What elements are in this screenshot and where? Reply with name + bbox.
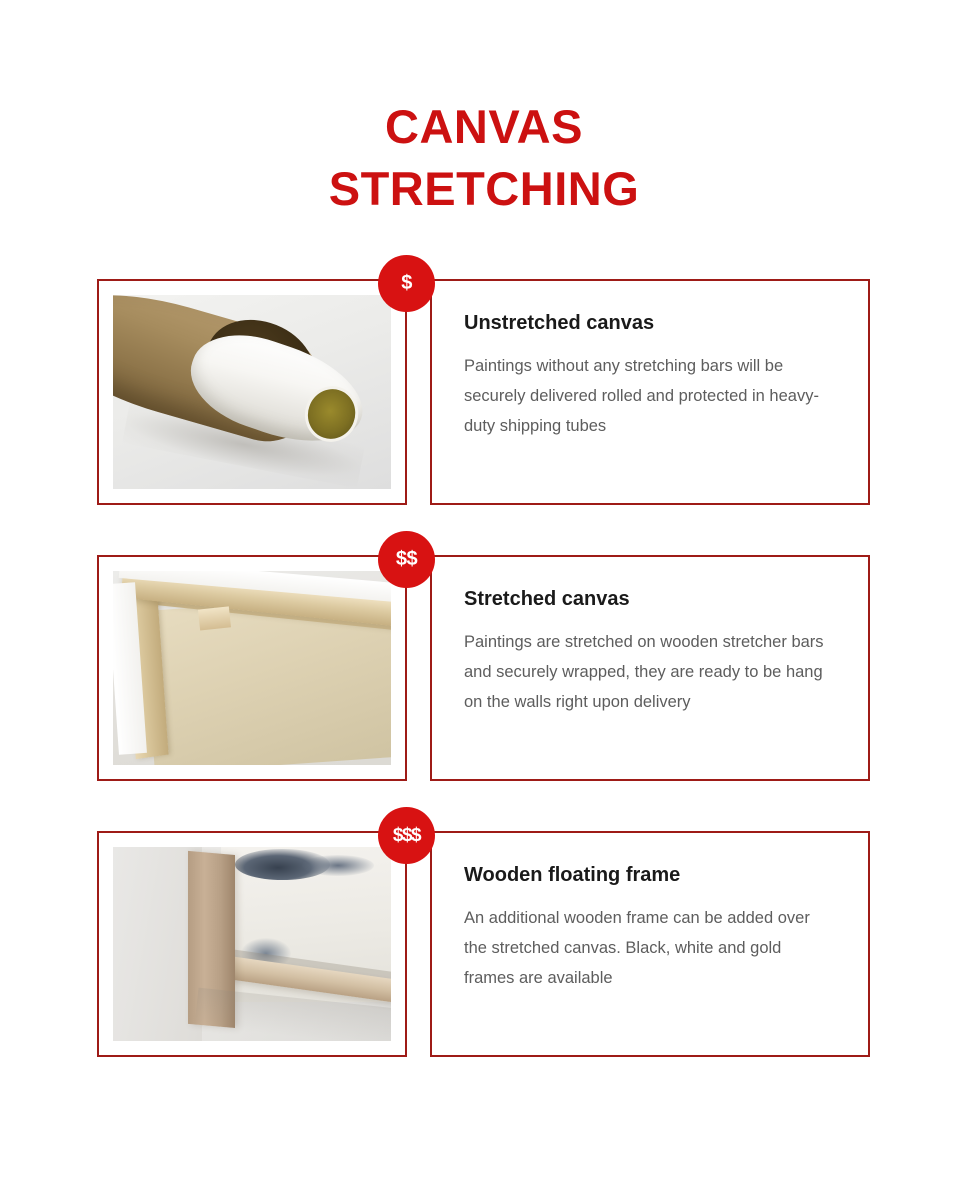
- price-badge: $$: [378, 531, 435, 588]
- stretched-canvas-wooden-bars-photo: [113, 571, 391, 765]
- page-title-line-1: CANVAS: [0, 96, 968, 158]
- option-text-card: Unstretched canvas Paintings without any…: [430, 279, 870, 505]
- option-heading: Wooden floating frame: [464, 863, 836, 887]
- option-heading: Unstretched canvas: [464, 311, 836, 335]
- option-image-card: $$$: [97, 831, 407, 1057]
- wooden-floating-frame-corner-photo: [113, 847, 391, 1041]
- price-badge: $: [378, 255, 435, 312]
- option-description: Paintings without any stretching bars wi…: [464, 351, 834, 441]
- price-badge: $$$: [378, 807, 435, 864]
- option-text-card: Stretched canvas Paintings are stretched…: [430, 555, 870, 781]
- option-heading: Stretched canvas: [464, 587, 836, 611]
- option-description: An additional wooden frame can be added …: [464, 903, 834, 993]
- option-row: $$ Stretched canvas Paintings are stretc…: [0, 555, 968, 781]
- page-title: CANVAS STRETCHING: [0, 96, 968, 220]
- page-title-line-2: STRETCHING: [0, 158, 968, 220]
- canvas-stretching-infographic: CANVAS STRETCHING $ Unstretched canvas P…: [0, 0, 968, 1182]
- options-list: $ Unstretched canvas Paintings without a…: [0, 279, 968, 1107]
- option-row: $ Unstretched canvas Paintings without a…: [0, 279, 968, 505]
- option-image-card: $$: [97, 555, 407, 781]
- artwork-ink-blot-b: [302, 855, 374, 876]
- option-image-card: $: [97, 279, 407, 505]
- option-text-card: Wooden floating frame An additional wood…: [430, 831, 870, 1057]
- option-row: $$$ Wooden floating frame An additional …: [0, 831, 968, 1057]
- rolled-canvas-shipping-tube-photo: [113, 295, 391, 489]
- corner-wedge-shape: [198, 606, 231, 630]
- option-description: Paintings are stretched on wooden stretc…: [464, 627, 834, 717]
